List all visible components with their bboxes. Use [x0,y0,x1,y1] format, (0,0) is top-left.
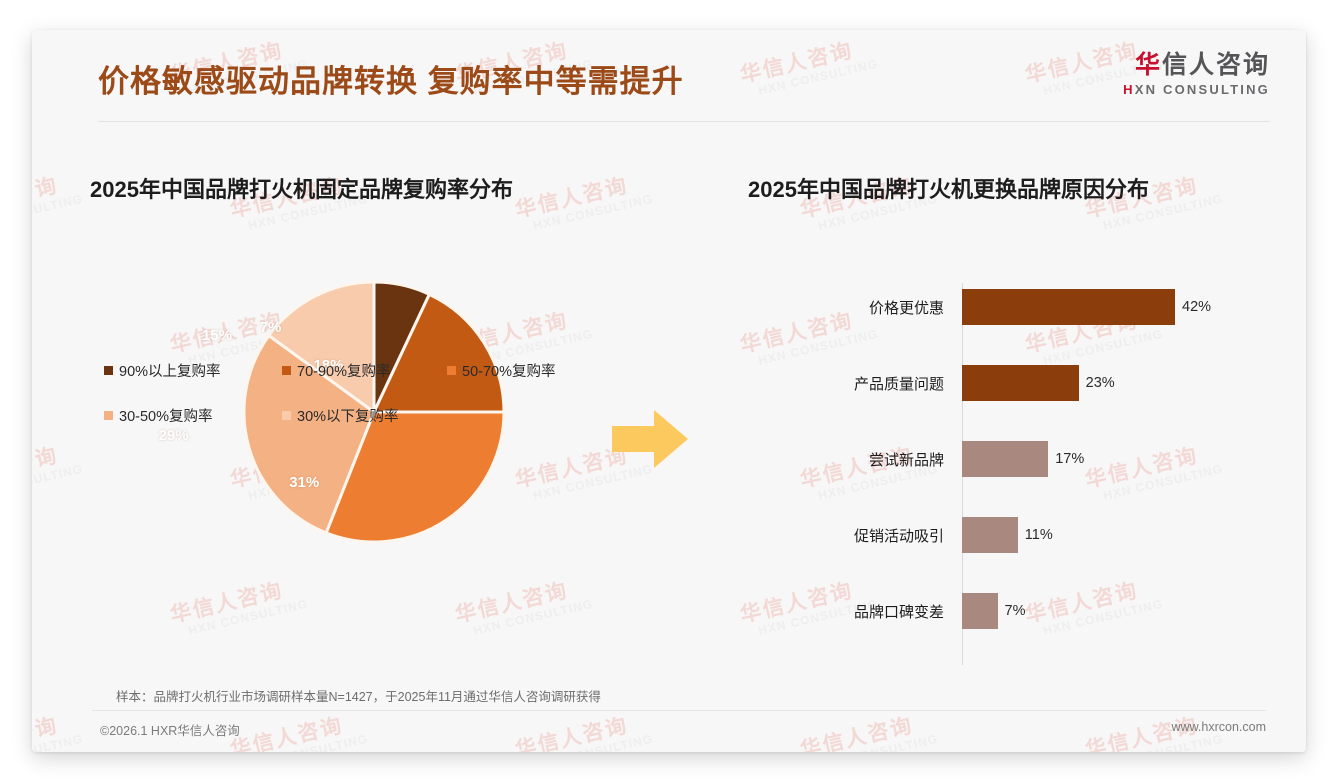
bar-row[interactable]: 价格更优惠42% [748,289,1268,325]
bar-row[interactable]: 产品质量问题23% [748,365,1268,401]
legend-label-3: 30-50%复购率 [119,405,212,426]
company-logo: 华信人咨询 HXN CONSULTING [1123,52,1270,97]
legend-swatch-2 [447,366,456,375]
pie-slice-label: 7% [260,319,282,336]
logo-en-rest: XN CONSULTING [1135,82,1270,97]
bar-category-label: 促销活动吸引 [748,525,953,546]
bar-fill[interactable] [962,365,1079,401]
logo-chinese: 华信人咨询 [1123,52,1270,79]
bar-track: 11% [953,517,1268,553]
legend-label-0: 90%以上复购率 [119,360,221,381]
bar-track: 42% [953,289,1268,325]
header-divider [98,121,1270,122]
legend-swatch-1 [282,366,291,375]
legend-item-0[interactable]: 90%以上复购率 [104,360,282,381]
watermark-tile: 华信人咨询HXN CONSULTING [797,704,939,752]
bar-fill[interactable] [962,517,1018,553]
bar-value-label: 17% [1055,451,1084,467]
watermark-tile: 华信人咨询HXN CONSULTING [32,704,84,752]
logo-en-accent: H [1123,82,1135,97]
bar-fill[interactable] [962,289,1175,325]
pie-slice-label: 15% [202,327,232,344]
pie-slice-label: 31% [289,474,319,491]
logo-cn-rest: 信人咨询 [1162,51,1270,79]
bar-chart: 价格更优惠42%产品质量问题23%尝试新品牌17%促销活动吸引11%品牌口碑变差… [748,245,1268,675]
bar-category-label: 尝试新品牌 [748,449,953,470]
pie-legend: 90%以上复购率 70-90%复购率 50-70%复购率 30-50%复购率 3… [104,360,584,450]
legend-item-1[interactable]: 70-90%复购率 [282,360,447,381]
watermark-tile: 华信人咨询HXN CONSULTING [227,704,369,752]
bar-category-label: 产品质量问题 [748,373,953,394]
footer-website[interactable]: www.hxrcon.com [1172,720,1266,734]
legend-row-2: 30-50%复购率 30%以下复购率 [104,405,584,426]
bar-value-label: 23% [1086,375,1115,391]
watermark-tile: 华信人咨询HXN CONSULTING [32,434,84,506]
watermark-tile: 华信人咨询HXN CONSULTING [512,164,654,236]
arrow-right-icon [610,408,690,475]
bar-value-label: 42% [1182,299,1211,315]
legend-label-2: 50-70%复购率 [462,360,555,381]
bar-value-label: 11% [1025,527,1053,543]
bar-track: 23% [953,365,1268,401]
bar-track: 7% [953,593,1268,629]
legend-item-2[interactable]: 50-70%复购率 [447,360,555,381]
bar-value-label: 7% [1005,603,1026,619]
bar-category-label: 价格更优惠 [748,297,953,318]
legend-swatch-0 [104,366,113,375]
bar-track: 17% [953,441,1268,477]
legend-item-3[interactable]: 30-50%复购率 [104,405,282,426]
watermark-tile: 华信人咨询HXN CONSULTING [32,164,84,236]
slide-card: 华信人咨询HXN CONSULTING华信人咨询HXN CONSULTING华信… [32,30,1306,752]
bar-row[interactable]: 尝试新品牌17% [748,441,1268,477]
logo-cn-accent: 华 [1135,51,1162,79]
legend-swatch-3 [104,411,113,420]
watermark-tile: 华信人咨询HXN CONSULTING [512,704,654,752]
legend-swatch-4 [282,411,291,420]
arrow-right-svg [610,408,690,470]
logo-english: HXN CONSULTING [1123,82,1270,97]
legend-item-4[interactable]: 30%以下复购率 [282,405,399,426]
bar-category-label: 品牌口碑变差 [748,601,953,622]
page-title: 价格敏感驱动品牌转换 复购率中等需提升 [98,56,684,101]
footer-divider [92,710,1266,711]
sample-footnote: 样本：品牌打火机行业市场调研样本量N=1427，于2025年11月通过华信人咨询… [116,686,601,705]
bar-row[interactable]: 品牌口碑变差7% [748,593,1268,629]
legend-row-1: 90%以上复购率 70-90%复购率 50-70%复购率 [104,360,584,381]
bar-row[interactable]: 促销活动吸引11% [748,517,1268,553]
footer-copyright: ©2026.1 HXR华信人咨询 [100,720,240,739]
bar-fill[interactable] [962,593,998,629]
legend-label-4: 30%以下复购率 [297,405,399,426]
bar-fill[interactable] [962,441,1048,477]
legend-label-1: 70-90%复购率 [297,360,390,381]
slide-header: 价格敏感驱动品牌转换 复购率中等需提升 华信人咨询 HXN CONSULTING [32,30,1306,120]
left-chart-title: 2025年中国品牌打火机固定品牌复购率分布 [90,172,513,204]
right-chart-title: 2025年中国品牌打火机更换品牌原因分布 [748,172,1149,204]
